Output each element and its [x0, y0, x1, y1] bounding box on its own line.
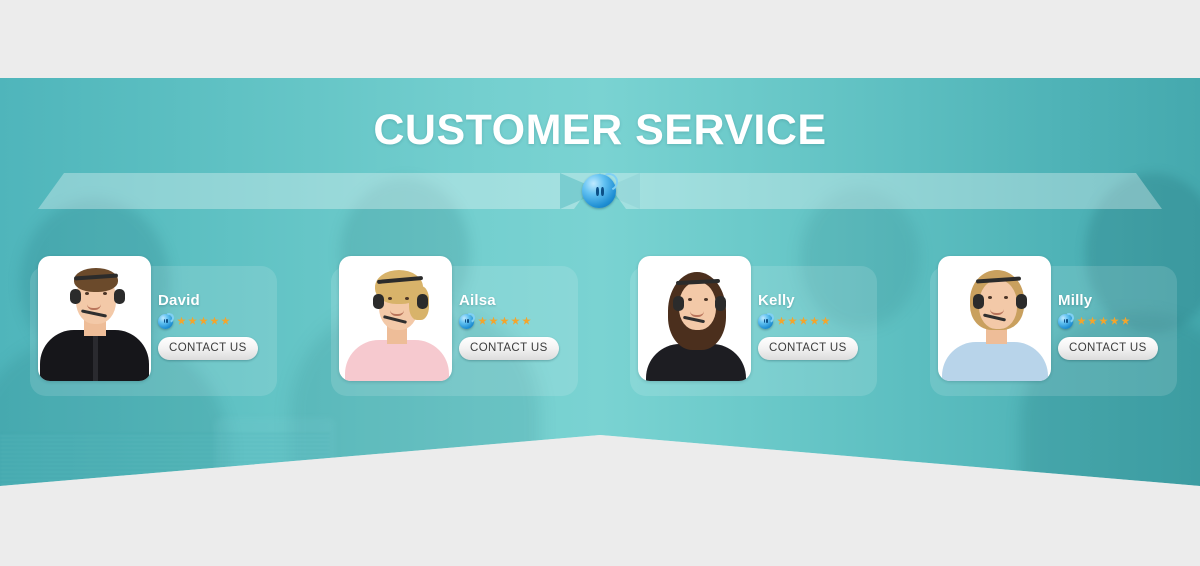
- star-icon: [1099, 317, 1108, 326]
- agent-name: Ailsa: [459, 292, 571, 309]
- avatar: [638, 256, 751, 381]
- contact-us-button[interactable]: CONTACT US: [158, 337, 258, 360]
- skype-icon-eye-left: [164, 319, 165, 323]
- hero-section: CUSTOMER SERVICE: [0, 78, 1200, 490]
- agent-name: David: [158, 292, 270, 309]
- contact-us-button[interactable]: CONTACT US: [459, 337, 559, 360]
- contact-us-button[interactable]: CONTACT US: [758, 337, 858, 360]
- agent-info: David CONTACT US: [158, 292, 270, 360]
- star-icon: [799, 317, 808, 326]
- star-icon: [188, 317, 197, 326]
- star-icon: [810, 317, 819, 326]
- avatar: [339, 256, 452, 381]
- contact-us-button[interactable]: CONTACT US: [1058, 337, 1158, 360]
- avatar: [38, 256, 151, 381]
- agent-name: Milly: [1058, 292, 1170, 309]
- star-icon: [1077, 317, 1086, 326]
- skype-icon-eye-left: [596, 187, 599, 196]
- skype-icon-eye-left: [764, 319, 765, 323]
- ribbon-bar: [0, 173, 1200, 215]
- ribbon-left-segment: [38, 173, 600, 209]
- skype-icon: [582, 174, 616, 208]
- ribbon-right-segment: [600, 173, 1162, 209]
- agent-card[interactable]: David CONTACT US: [30, 266, 277, 396]
- star-icon: [1088, 317, 1097, 326]
- skype-icon[interactable]: [1058, 314, 1073, 329]
- agent-card[interactable]: Ailsa CONTACT US: [331, 266, 578, 396]
- agent-card[interactable]: Milly CONTACT US: [930, 266, 1177, 396]
- star-icon: [489, 317, 498, 326]
- agent-rating: [1058, 313, 1170, 329]
- skype-icon-eye-left: [1064, 319, 1065, 323]
- page-title: CUSTOMER SERVICE: [0, 106, 1200, 155]
- skype-icon[interactable]: [459, 314, 474, 329]
- star-icon: [1121, 317, 1130, 326]
- agent-rating: [459, 313, 571, 329]
- agent-info: Kelly CONTACT US: [758, 292, 870, 360]
- agent-info: Ailsa CONTACT US: [459, 292, 571, 360]
- star-icon: [788, 317, 797, 326]
- star-icon: [777, 317, 786, 326]
- star-icon: [821, 317, 830, 326]
- agent-rating: [758, 313, 870, 329]
- star-icon: [210, 317, 219, 326]
- skype-icon[interactable]: [758, 314, 773, 329]
- agent-card-list: David CONTACT US: [0, 266, 1200, 406]
- star-icon: [478, 317, 487, 326]
- skype-icon-eye-left: [465, 319, 466, 323]
- agent-name: Kelly: [758, 292, 870, 309]
- star-icon: [500, 317, 509, 326]
- star-icon: [522, 317, 531, 326]
- skype-icon-eye-right: [1066, 319, 1067, 323]
- skype-icon-eye-right: [467, 319, 468, 323]
- top-spacer: [0, 0, 1200, 78]
- agent-rating: [158, 313, 270, 329]
- star-icon: [177, 317, 186, 326]
- star-icon: [1110, 317, 1119, 326]
- skype-icon-eye-right: [166, 319, 167, 323]
- skype-icon-eye-right: [601, 187, 604, 196]
- customer-service-banner: CUSTOMER SERVICE: [0, 0, 1200, 566]
- star-icon: [511, 317, 520, 326]
- skype-icon-eye-right: [766, 319, 767, 323]
- agent-card[interactable]: Kelly CONTACT US: [630, 266, 877, 396]
- avatar: [938, 256, 1051, 381]
- skype-icon[interactable]: [158, 314, 173, 329]
- star-icon: [199, 317, 208, 326]
- star-icon: [221, 317, 230, 326]
- agent-info: Milly CONTACT US: [1058, 292, 1170, 360]
